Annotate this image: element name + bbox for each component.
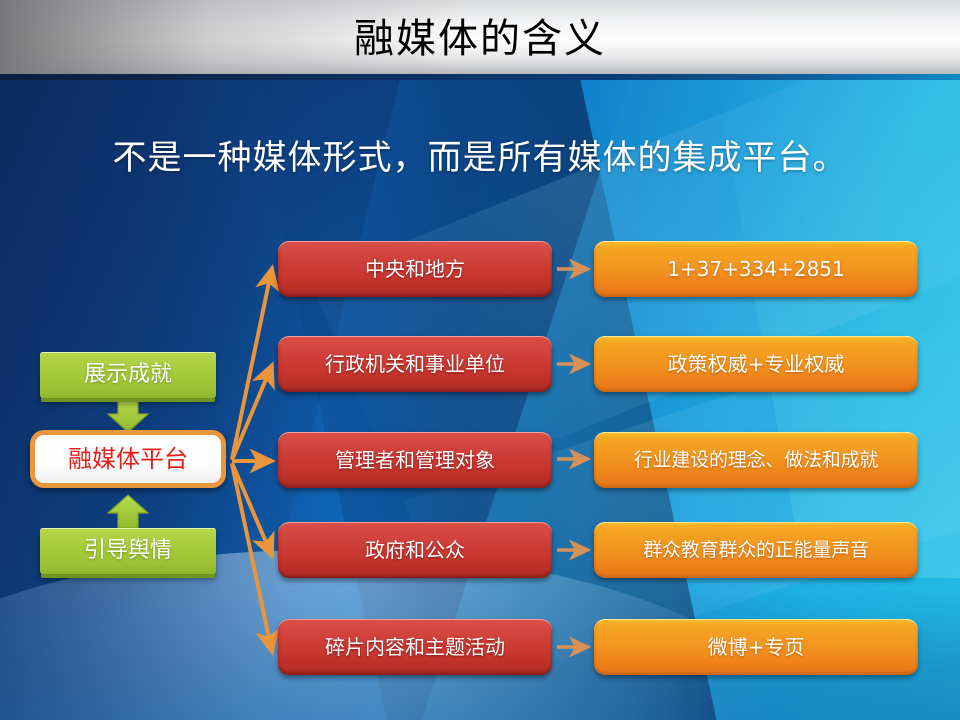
slide-title: 融媒体的含义 — [0, 0, 960, 74]
result-box-2[interactable]: 政策权威+专业权威 — [594, 336, 918, 392]
subject-label-3: 管理者和管理对象 — [335, 449, 495, 471]
center-label: 融媒体平台 — [68, 446, 188, 472]
result-label-1: 1+37+334+2851 — [667, 258, 845, 280]
subject-box-4[interactable]: 政府和公众 — [278, 522, 552, 578]
result-label-3: 行业建设的理念、做法和成就 — [634, 450, 878, 471]
result-label-2: 政策权威+专业权威 — [668, 353, 845, 375]
center-node-media-platform[interactable]: 融媒体平台 — [30, 430, 226, 488]
goal-label-2: 引导舆情 — [84, 539, 172, 563]
result-box-3[interactable]: 行业建设的理念、做法和成就 — [594, 432, 918, 488]
result-box-4[interactable]: 群众教育群众的正能量声音 — [594, 522, 918, 578]
result-box-1[interactable]: 1+37+334+2851 — [594, 241, 918, 297]
slide-subtitle: 不是一种媒体形式，而是所有媒体的集成平台。 — [0, 130, 960, 179]
goal-label-1: 展示成就 — [84, 363, 172, 387]
result-label-5: 微博+专页 — [708, 636, 805, 658]
subject-label-1: 中央和地方 — [365, 258, 465, 280]
subject-label-4: 政府和公众 — [365, 539, 465, 561]
subject-label-2: 行政机关和事业单位 — [325, 353, 505, 375]
subject-box-1[interactable]: 中央和地方 — [278, 241, 552, 297]
subject-box-3[interactable]: 管理者和管理对象 — [278, 432, 552, 488]
subject-box-2[interactable]: 行政机关和事业单位 — [278, 336, 552, 392]
subject-label-5: 碎片内容和主题活动 — [325, 636, 505, 658]
subject-box-5[interactable]: 碎片内容和主题活动 — [278, 619, 552, 675]
slide-header-bar: 融媒体的含义 — [0, 0, 960, 74]
result-box-5[interactable]: 微博+专页 — [594, 619, 918, 675]
goal-box-guide-opinion[interactable]: 引导舆情 — [40, 528, 216, 574]
header-divider — [0, 74, 960, 80]
slide-root: 融媒体的含义 不是一种媒体形式，而是所有媒体的集成平台。 — [0, 0, 960, 720]
goal-box-show-achievement[interactable]: 展示成就 — [40, 352, 216, 398]
result-label-4: 群众教育群众的正能量声音 — [643, 540, 869, 561]
